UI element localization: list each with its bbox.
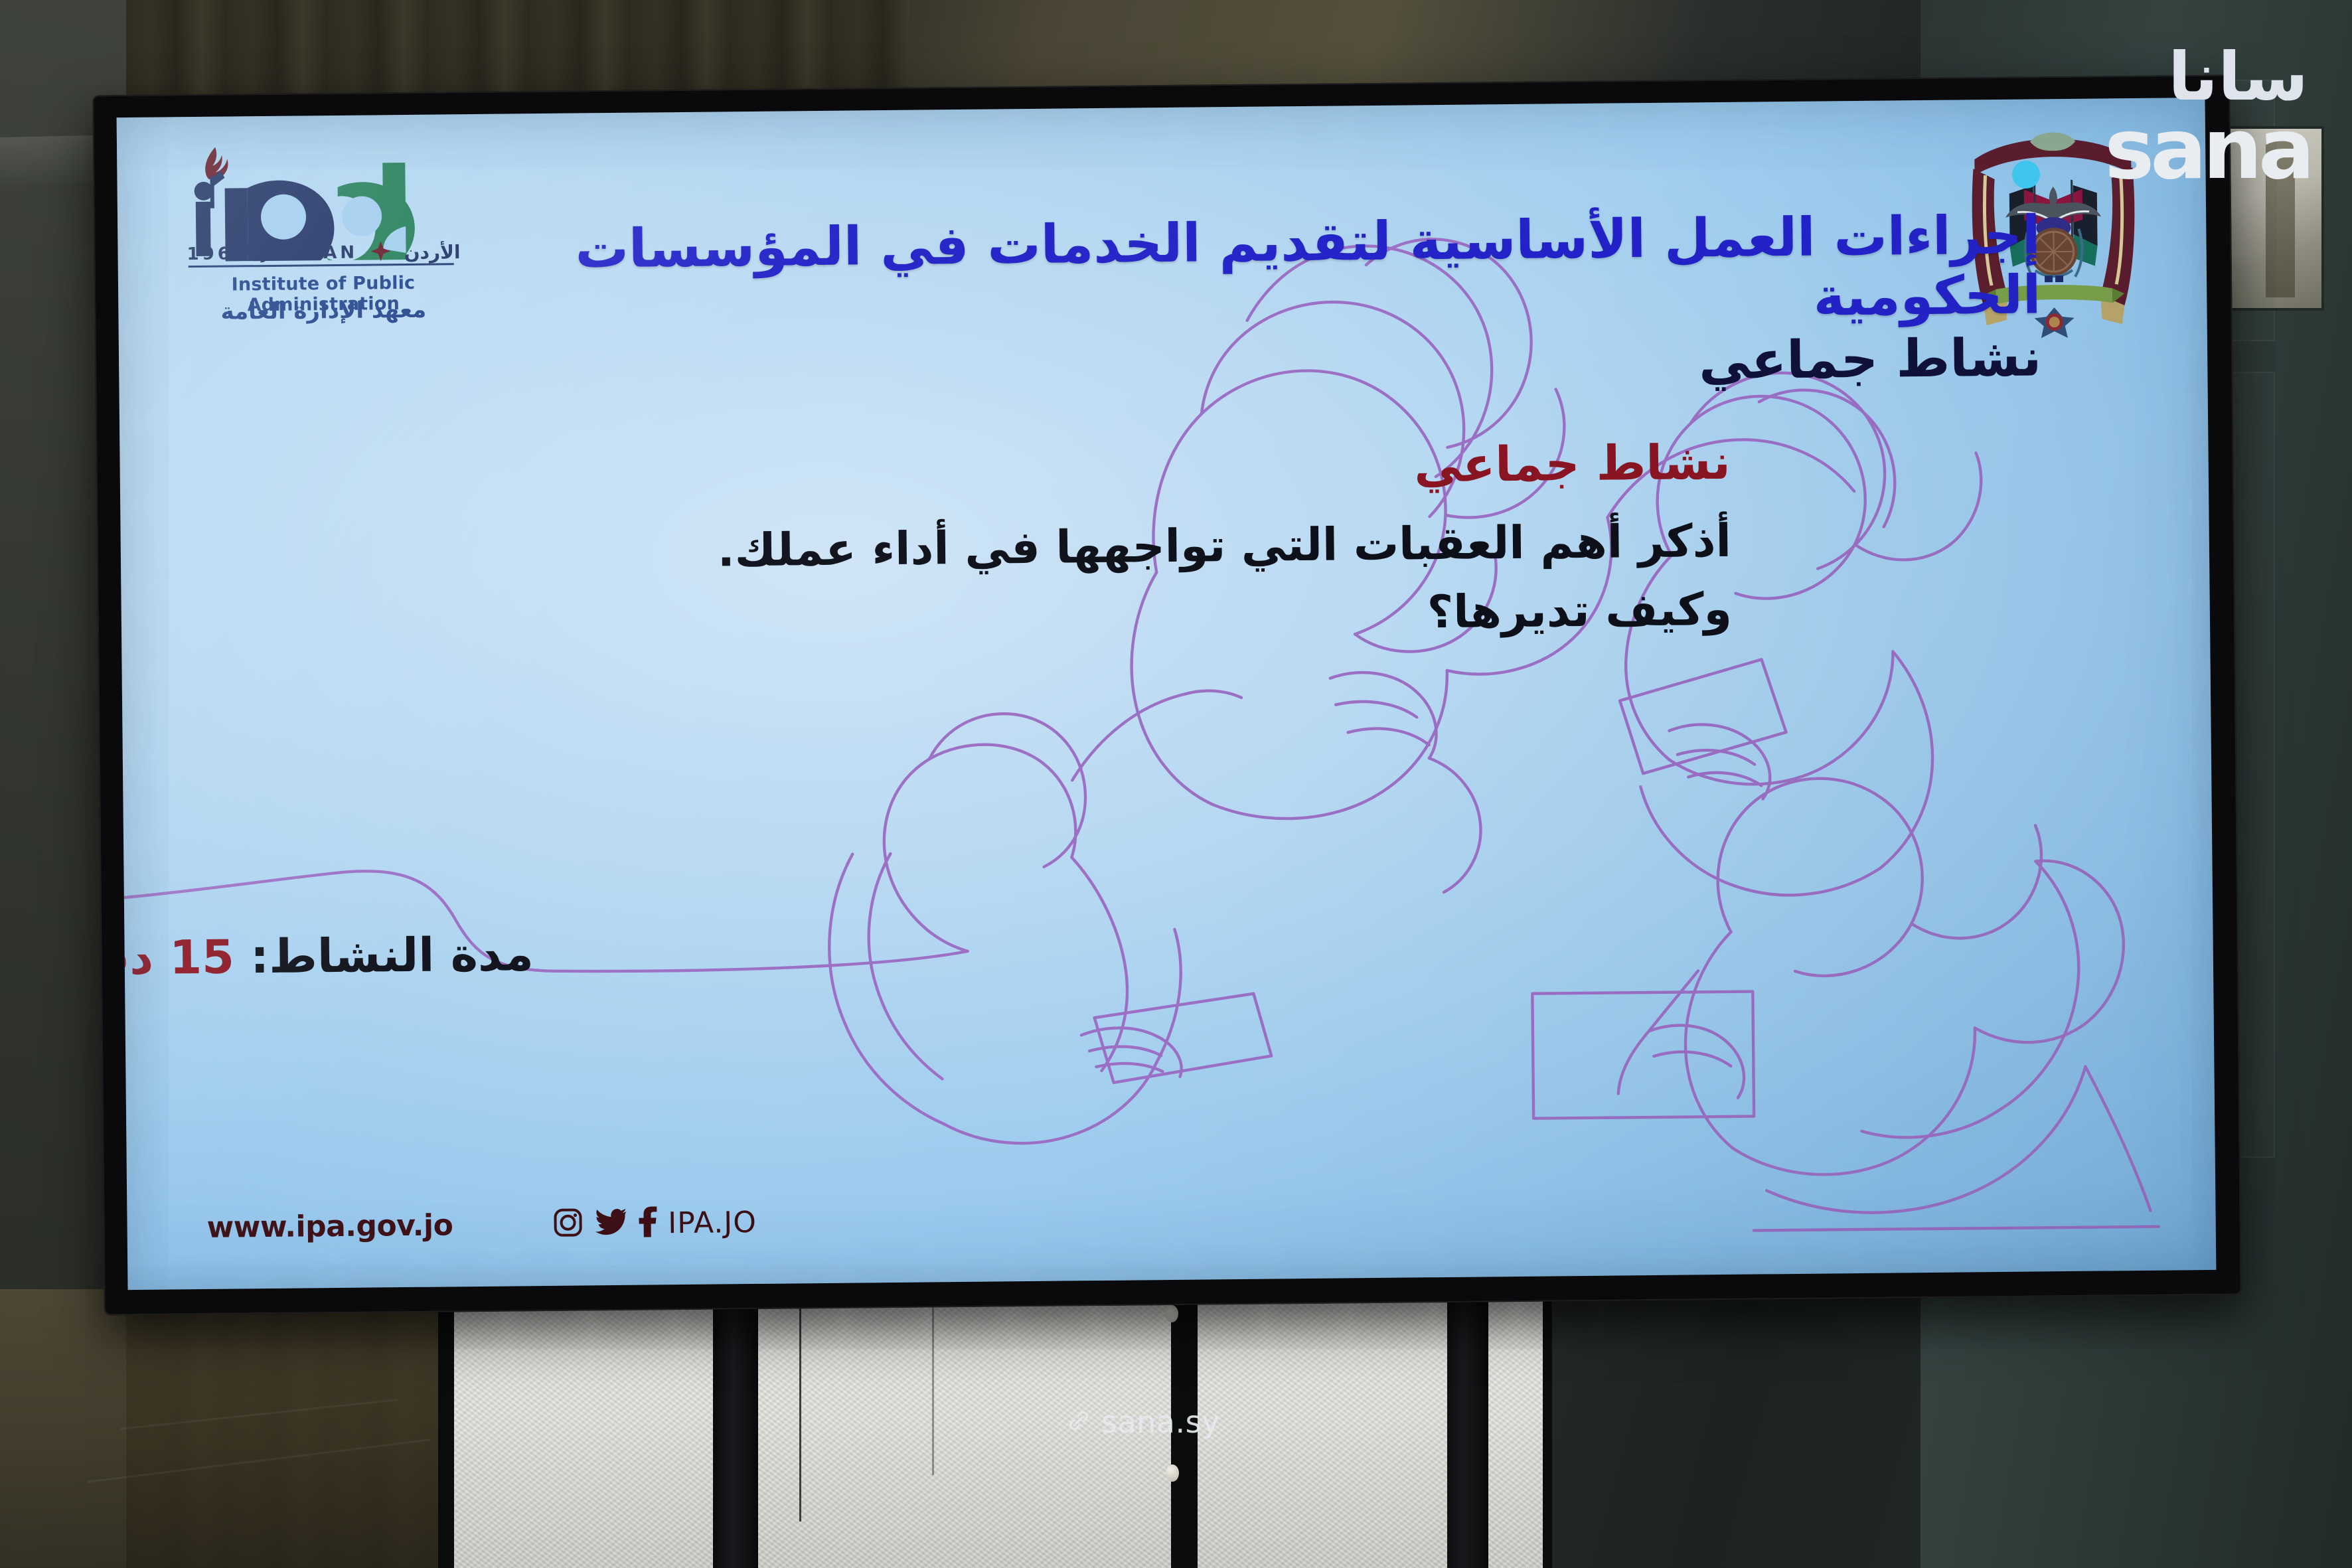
sana-watermark-dot — [2012, 161, 2040, 189]
screw-head — [1165, 1305, 1178, 1322]
tv-stand-column — [717, 1281, 758, 1568]
slide-body-block: نشاط جماعي أذكر أهم العقبات التي تواجهها… — [694, 434, 1732, 655]
tv-stand-column — [1447, 1281, 1488, 1568]
sana-watermark-latin: sana — [2104, 108, 2311, 191]
sanasy-watermark: sana.sy — [1065, 1404, 1220, 1440]
instagram-icon[interactable] — [552, 1207, 583, 1240]
activity-heading: نشاط جماعي — [694, 434, 1731, 500]
ipa-logo-country-en: JORDAN — [262, 243, 358, 264]
screw-head — [1166, 1464, 1179, 1482]
twitter-icon[interactable] — [593, 1207, 627, 1240]
slide-subtitle: نشاط جماعي — [428, 329, 2042, 404]
presentation-slide: 1968 JORDAN الأردن Institute of Public A… — [117, 98, 2217, 1290]
link-icon — [1065, 1407, 1092, 1437]
activity-duration: مدة النشاط: 15 دقيقة — [117, 927, 534, 987]
social-handle: IPA.JO — [668, 1205, 757, 1239]
activity-question: أذكر أهم العقبات التي تواجهها في أداء عم… — [695, 507, 1732, 655]
ipa-logo: 1968 JORDAN الأردن Institute of Public A… — [183, 142, 464, 344]
slide-footer: www.ipa.gov.jo — [206, 1196, 1037, 1251]
ipa-logo-year: 1968 — [187, 244, 248, 264]
website-url[interactable]: www.ipa.gov.jo — [206, 1208, 453, 1245]
ipa-logo-name-ar: معهد الإدارة العامة — [187, 296, 459, 325]
facebook-icon[interactable] — [637, 1206, 657, 1239]
star-icon — [371, 241, 391, 264]
activity-duration-label: مدة النشاط: — [250, 927, 534, 984]
photo-scene: 1968 JORDAN الأردن Institute of Public A… — [0, 0, 2352, 1568]
tv-display: 1968 JORDAN الأردن Institute of Public A… — [92, 75, 2241, 1316]
tv-screen: 1968 JORDAN الأردن Institute of Public A… — [117, 98, 2217, 1290]
social-links: IPA.JO — [552, 1205, 757, 1241]
sana-watermark: سانا sana — [1999, 44, 2311, 196]
slide-title-block: إجراءات العمل الأساسية لتقديم الخدمات في… — [427, 205, 2042, 404]
activity-duration-value: 15 دقيقة — [117, 930, 235, 986]
sanasy-watermark-label: sana.sy — [1101, 1404, 1220, 1440]
page-title: إجراءات العمل الأساسية لتقديم الخدمات في… — [427, 205, 2041, 340]
